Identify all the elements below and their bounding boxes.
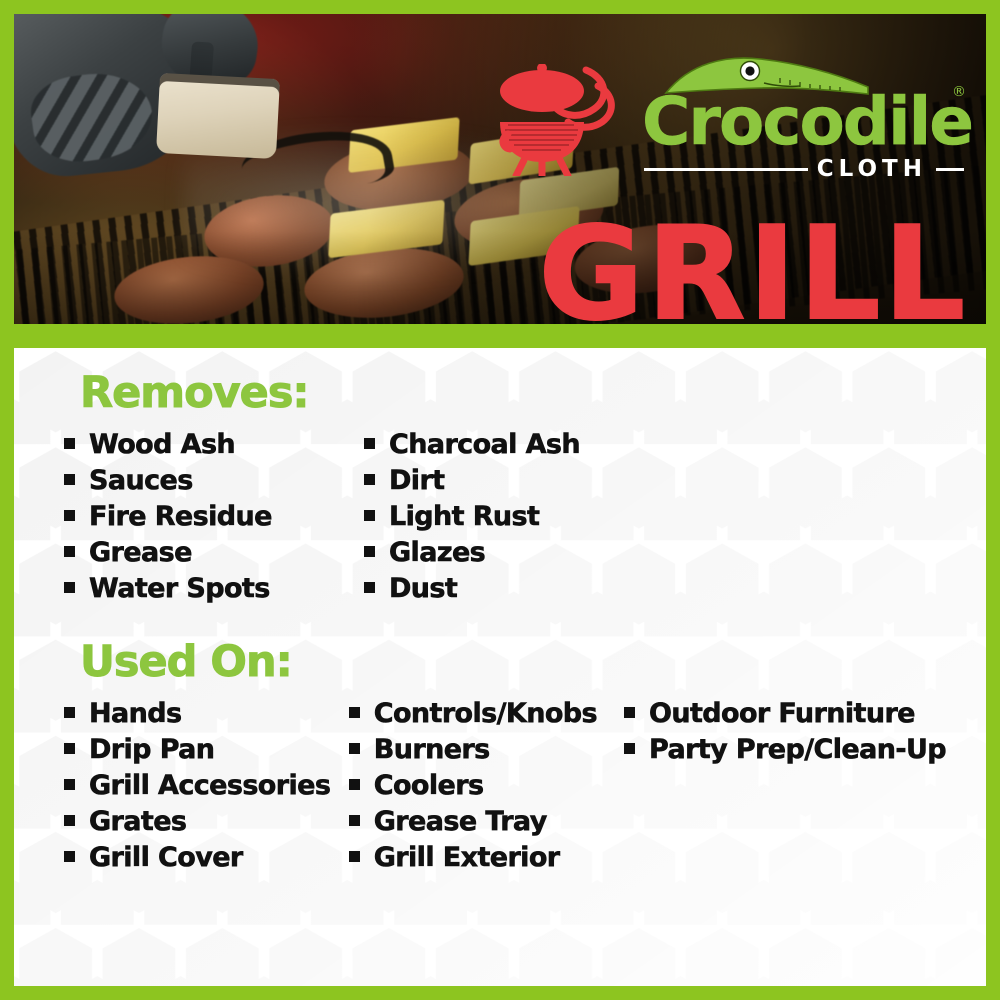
brand-logo-lockup: Crocodile ® CLOTH xyxy=(494,62,964,167)
list-item: Grease Tray xyxy=(349,808,624,835)
bullet-square-icon xyxy=(64,707,75,718)
bullet-square-icon xyxy=(364,438,375,449)
crocodile-wordmark: Crocodile ® xyxy=(642,62,962,155)
list-item-label: Dirt xyxy=(389,467,445,494)
list-item-label: Outdoor Furniture xyxy=(649,700,915,727)
content-panel: Removes: Wood Ash Sauces Fire Residue xyxy=(14,348,986,986)
list-item-label: Dust xyxy=(389,575,457,602)
list-item-label: Glazes xyxy=(389,539,485,566)
list-item-label: Grates xyxy=(89,808,186,835)
list-item: Water Spots xyxy=(64,575,364,602)
list-item-label: Wood Ash xyxy=(89,431,235,458)
list-item: Grates xyxy=(64,808,349,835)
list-item-label: Charcoal Ash xyxy=(389,431,580,458)
list-item-label: Coolers xyxy=(374,772,484,799)
list-item: Hands xyxy=(64,700,349,727)
list-item: Light Rust xyxy=(364,503,654,530)
list-item-label: Fire Residue xyxy=(89,503,272,530)
list-item: Burners xyxy=(349,736,624,763)
list-item-label: Hands xyxy=(89,700,181,727)
green-divider xyxy=(14,324,986,348)
bullet-square-icon xyxy=(64,474,75,485)
bullet-square-icon xyxy=(64,815,75,826)
list-item-label: Sauces xyxy=(89,467,193,494)
list-item: Grill Cover xyxy=(64,844,349,871)
section-title-used-on: Used On: xyxy=(80,641,946,684)
bullet-square-icon xyxy=(349,707,360,718)
bullet-square-icon xyxy=(364,582,375,593)
registered-trademark-icon: ® xyxy=(952,84,966,100)
bullet-square-icon xyxy=(64,779,75,790)
list-item-label: Party Prep/Clean-Up xyxy=(649,736,946,763)
list-item: Coolers xyxy=(349,772,624,799)
used-on-column-2: Controls/Knobs Burners Coolers Grease Tr… xyxy=(349,700,624,880)
list-item-label: Grill Accessories xyxy=(89,772,330,799)
bullet-square-icon xyxy=(364,474,375,485)
bullet-square-icon xyxy=(64,546,75,557)
bullet-square-icon xyxy=(624,707,635,718)
bullet-square-icon xyxy=(64,851,75,862)
bullet-square-icon xyxy=(64,510,75,521)
list-item: Grill Exterior xyxy=(349,844,624,871)
bullet-square-icon xyxy=(364,510,375,521)
list-item-label: Controls/Knobs xyxy=(374,700,597,727)
list-item-label: Drip Pan xyxy=(89,736,214,763)
used-on-column-1: Hands Drip Pan Grill Accessories Grates xyxy=(64,700,349,880)
list-item: Sauces xyxy=(64,467,364,494)
removes-column-2: Charcoal Ash Dirt Light Rust Glazes xyxy=(364,431,654,611)
list-item: Controls/Knobs xyxy=(349,700,624,727)
list-item: Drip Pan xyxy=(64,736,349,763)
list-item-label: Grease Tray xyxy=(374,808,547,835)
bbq-grill-smoke-icon xyxy=(494,64,624,176)
list-item: Grill Accessories xyxy=(64,772,349,799)
bullet-square-icon xyxy=(364,546,375,557)
list-item-label: Grease xyxy=(89,539,192,566)
list-item: Wood Ash xyxy=(64,431,364,458)
list-item-label: Grill Cover xyxy=(89,844,243,871)
removes-columns: Wood Ash Sauces Fire Residue Grease xyxy=(64,431,946,611)
bullet-square-icon xyxy=(64,582,75,593)
list-item: Outdoor Furniture xyxy=(624,700,946,727)
product-feature-poster: Crocodile ® CLOTH GRILL xyxy=(0,0,1000,1000)
list-item: Fire Residue xyxy=(64,503,364,530)
list-item: Charcoal Ash xyxy=(364,431,654,458)
bullet-square-icon xyxy=(349,779,360,790)
bullet-square-icon xyxy=(349,851,360,862)
section-title-removes: Removes: xyxy=(80,372,946,415)
list-item-label: Water Spots xyxy=(89,575,270,602)
bullet-square-icon xyxy=(349,743,360,754)
brand-sub-name: CLOTH xyxy=(817,156,927,182)
list-item-label: Burners xyxy=(374,736,490,763)
bullet-square-icon xyxy=(64,438,75,449)
bullet-square-icon xyxy=(64,743,75,754)
bullet-square-icon xyxy=(624,743,635,754)
used-on-column-3: Outdoor Furniture Party Prep/Clean-Up xyxy=(624,700,946,880)
list-item: Dust xyxy=(364,575,654,602)
list-item: Grease xyxy=(64,539,364,566)
removes-column-1: Wood Ash Sauces Fire Residue Grease xyxy=(64,431,364,611)
hero-banner: Crocodile ® CLOTH GRILL xyxy=(14,14,986,324)
used-on-columns: Hands Drip Pan Grill Accessories Grates xyxy=(64,700,946,880)
bullet-square-icon xyxy=(349,815,360,826)
list-item: Dirt xyxy=(364,467,654,494)
list-item-label: Light Rust xyxy=(389,503,539,530)
brand-sub-lockup: CLOTH xyxy=(644,156,964,182)
cloth-rule-left xyxy=(644,168,808,171)
cloth-rule-right xyxy=(936,168,964,171)
list-item-label: Grill Exterior xyxy=(374,844,560,871)
list-item: Party Prep/Clean-Up xyxy=(624,736,946,763)
crocodile-head-icon xyxy=(664,57,870,97)
list-item: Glazes xyxy=(364,539,654,566)
product-title: GRILL xyxy=(539,223,968,324)
